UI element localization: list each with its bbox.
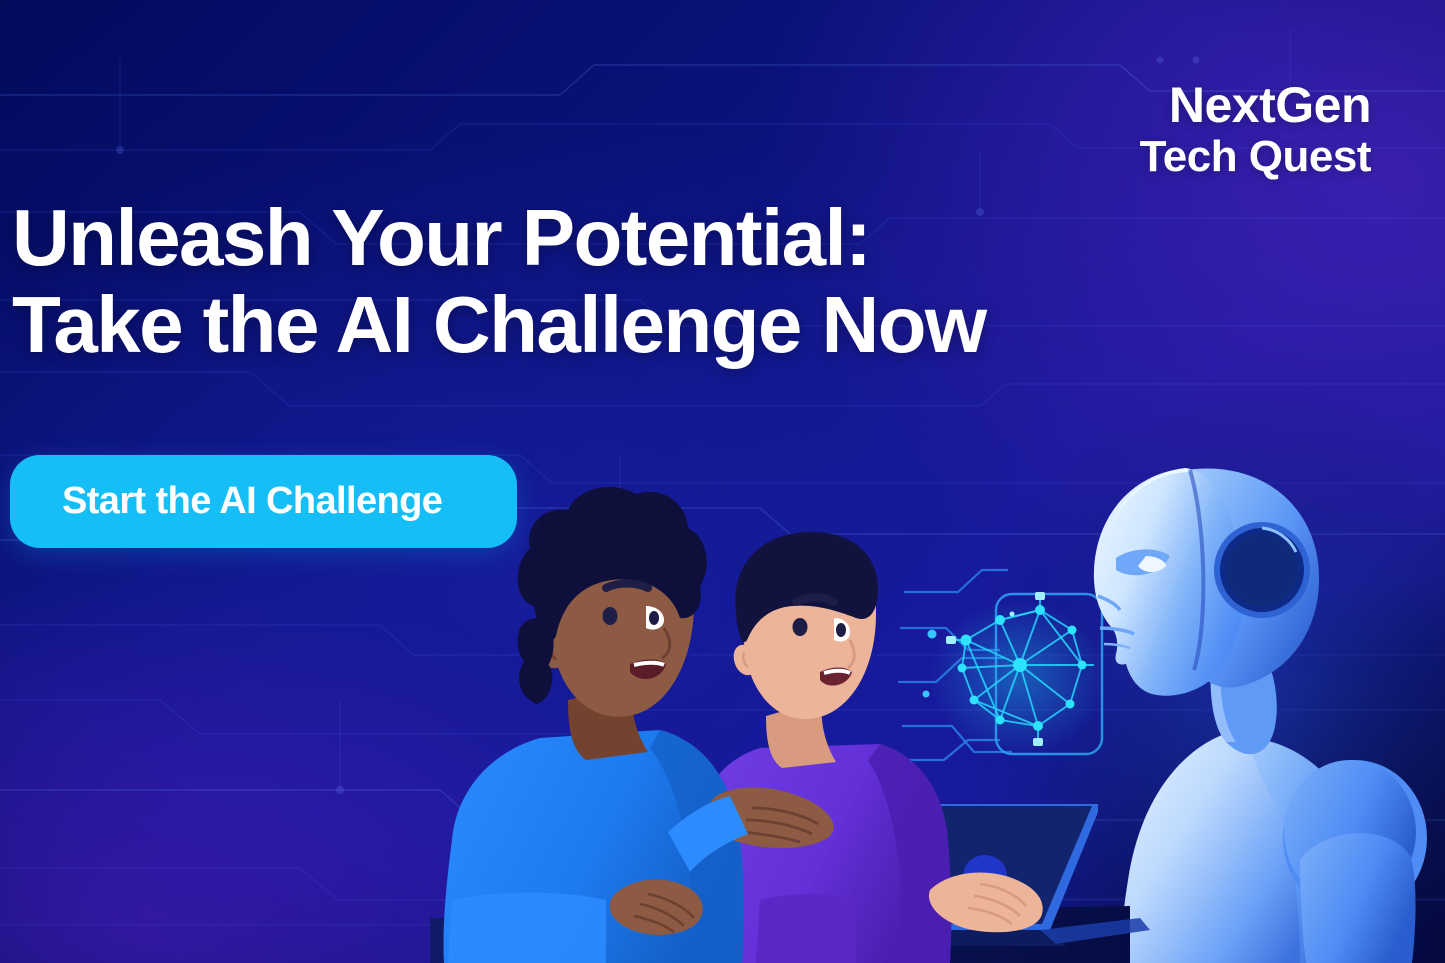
page-title: Unleash Your Potential: Take the AI Chal…: [12, 194, 986, 368]
start-ai-challenge-button[interactable]: Start the AI Challenge: [10, 455, 517, 548]
eye-left: [793, 618, 808, 636]
eye-left: [603, 607, 618, 625]
logo-line-2: Tech Quest: [1140, 134, 1371, 179]
logo-line-1: NextGen: [1140, 80, 1371, 132]
headline-line-2: Take the AI Challenge Now: [12, 281, 986, 368]
headline-line-1: Unleash Your Potential:: [12, 194, 986, 281]
promo-banner: NextGen Tech Quest Unleash Your Potentia…: [0, 0, 1445, 963]
brand-logo[interactable]: NextGen Tech Quest: [1140, 80, 1371, 179]
